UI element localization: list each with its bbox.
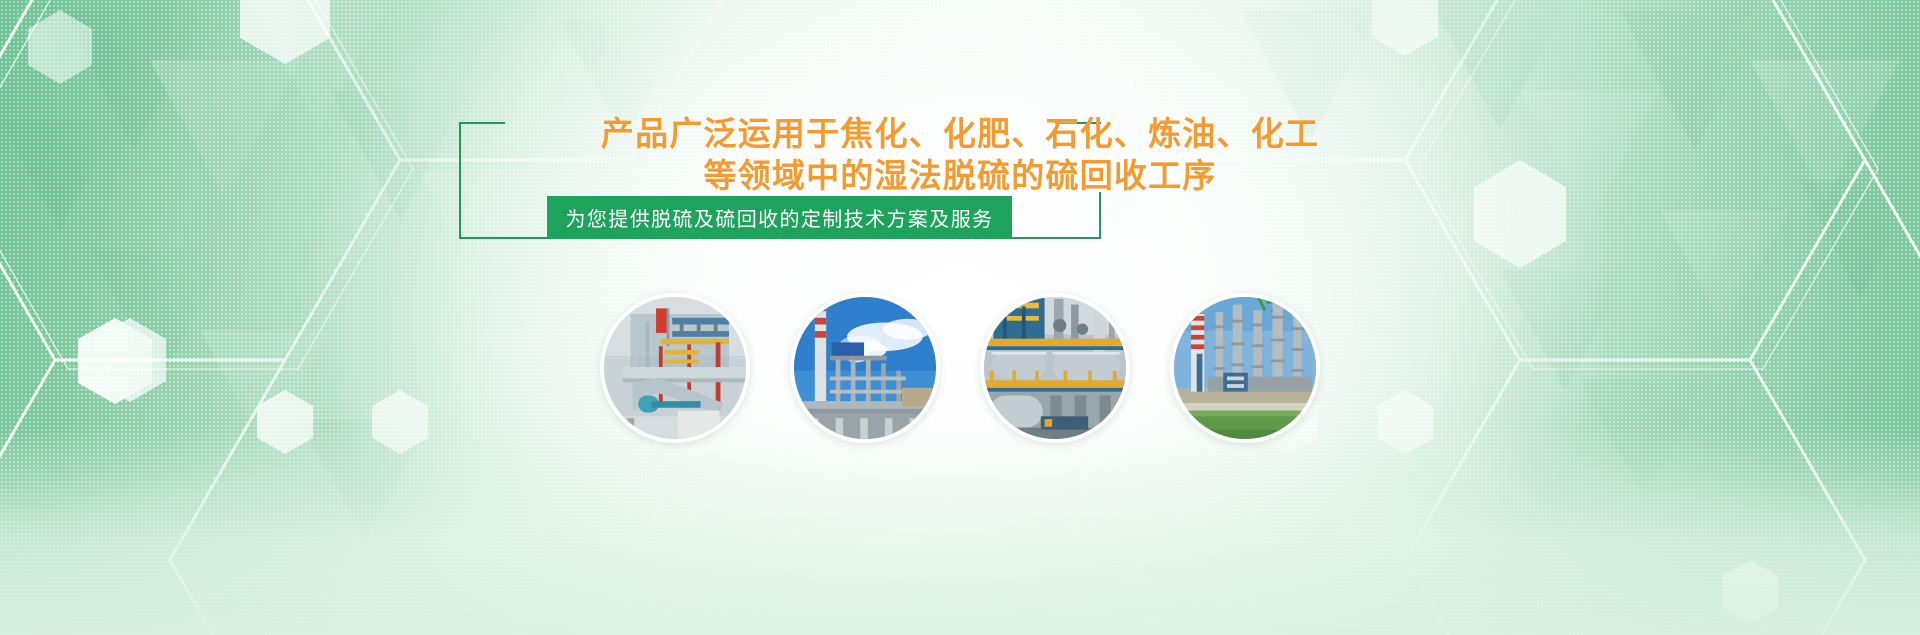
banner-subtitle-text: 为您提供脱硫及硫回收的定制技术方案及服务	[566, 203, 994, 232]
photo-refinery-towers	[1170, 293, 1320, 443]
headline-frame-right	[1006, 192, 1101, 239]
headline-line-1: 产品广泛运用于焦化、化肥、石化、炼油、化工	[0, 113, 1920, 155]
banner-headline: 产品广泛运用于焦化、化肥、石化、炼油、化工 等领域中的湿法脱硫的硫回收工序	[0, 113, 1920, 197]
photo-chimney-blue-sky-plant	[790, 293, 940, 443]
banner-subtitle-bar: 为您提供脱硫及硫回收的定制技术方案及服务	[547, 196, 1012, 239]
promo-banner: 产品广泛运用于焦化、化肥、石化、炼油、化工 等领域中的湿法脱硫的硫回收工序 为您…	[0, 0, 1920, 635]
headline-line-2: 等领域中的湿法脱硫的硫回收工序	[0, 155, 1920, 197]
photo-desulfurization-plant-piping	[600, 293, 750, 443]
frame-right-vertical-segment	[1099, 192, 1101, 239]
frame-right-horizontal-segment	[1006, 237, 1101, 239]
photo-circle-row	[0, 293, 1920, 443]
photo-sulfur-recovery-tanks	[980, 293, 1130, 443]
